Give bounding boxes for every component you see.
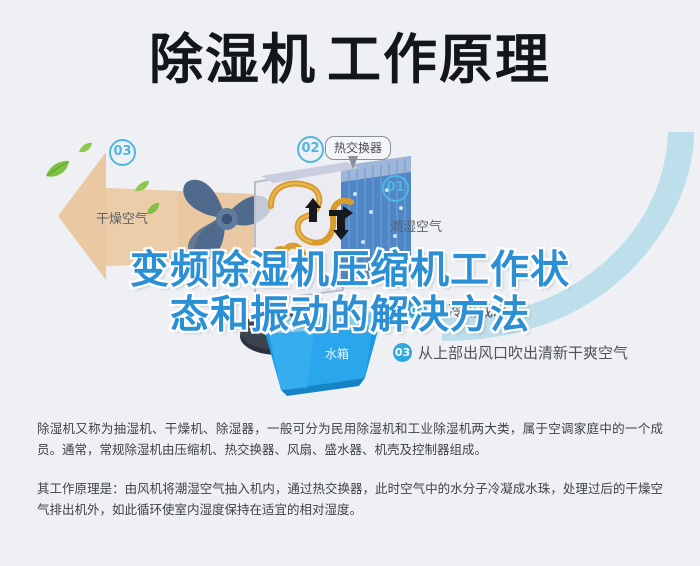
page-root: 除湿机工作原理 xyxy=(0,0,700,566)
step-badge-03: 03 xyxy=(393,343,412,362)
callout-badge-03: 03 xyxy=(109,139,136,166)
page-title-part1: 除湿机 xyxy=(149,28,317,91)
leaf-icon xyxy=(134,180,150,193)
callout-bubble-heat-exchanger: 热交换器 xyxy=(325,136,391,160)
step-line-03: 03 从上部出风口吹出清新干爽空气 xyxy=(393,342,628,363)
page-title: 除湿机工作原理 xyxy=(0,28,700,92)
leaf-icon xyxy=(146,202,160,216)
body-paragraph-2: 其工作原理是：由风机将潮湿空气抽入机内，通过热交换器，此时空气中的水分子冷凝成水… xyxy=(37,478,663,520)
article-body: 除湿机又称为抽湿机、干燥机、除湿器，一般可分为民用除湿机和工业除湿机两大类，属于… xyxy=(37,418,663,520)
overlay-headline-line2: 态和振动的解决方法 xyxy=(0,293,700,338)
overlay-headline-line1: 变频除湿机压缩机工作状 xyxy=(0,248,700,293)
step-text-03: 从上部出风口吹出清新干爽空气 xyxy=(418,342,628,363)
callout-label-dry-air: 干燥空气 xyxy=(96,208,148,227)
callout-badge-01: 01 xyxy=(382,175,409,202)
callout-bubble-tail-icon xyxy=(348,156,358,169)
body-paragraph-1: 除湿机又称为抽湿机、干燥机、除湿器，一般可分为民用除湿机和工业除湿机两大类，属于… xyxy=(37,418,663,460)
leaf-icon xyxy=(78,142,93,154)
water-tank-label: 水箱 xyxy=(325,345,349,362)
page-title-part2: 工作原理 xyxy=(327,28,551,91)
overlay-headline: 变频除湿机压缩机工作状 态和振动的解决方法 xyxy=(0,248,700,338)
callout-label-humid-air: 潮湿空气 xyxy=(390,216,442,235)
leaf-icon xyxy=(44,160,70,180)
callout-badge-02: 02 xyxy=(297,136,324,163)
